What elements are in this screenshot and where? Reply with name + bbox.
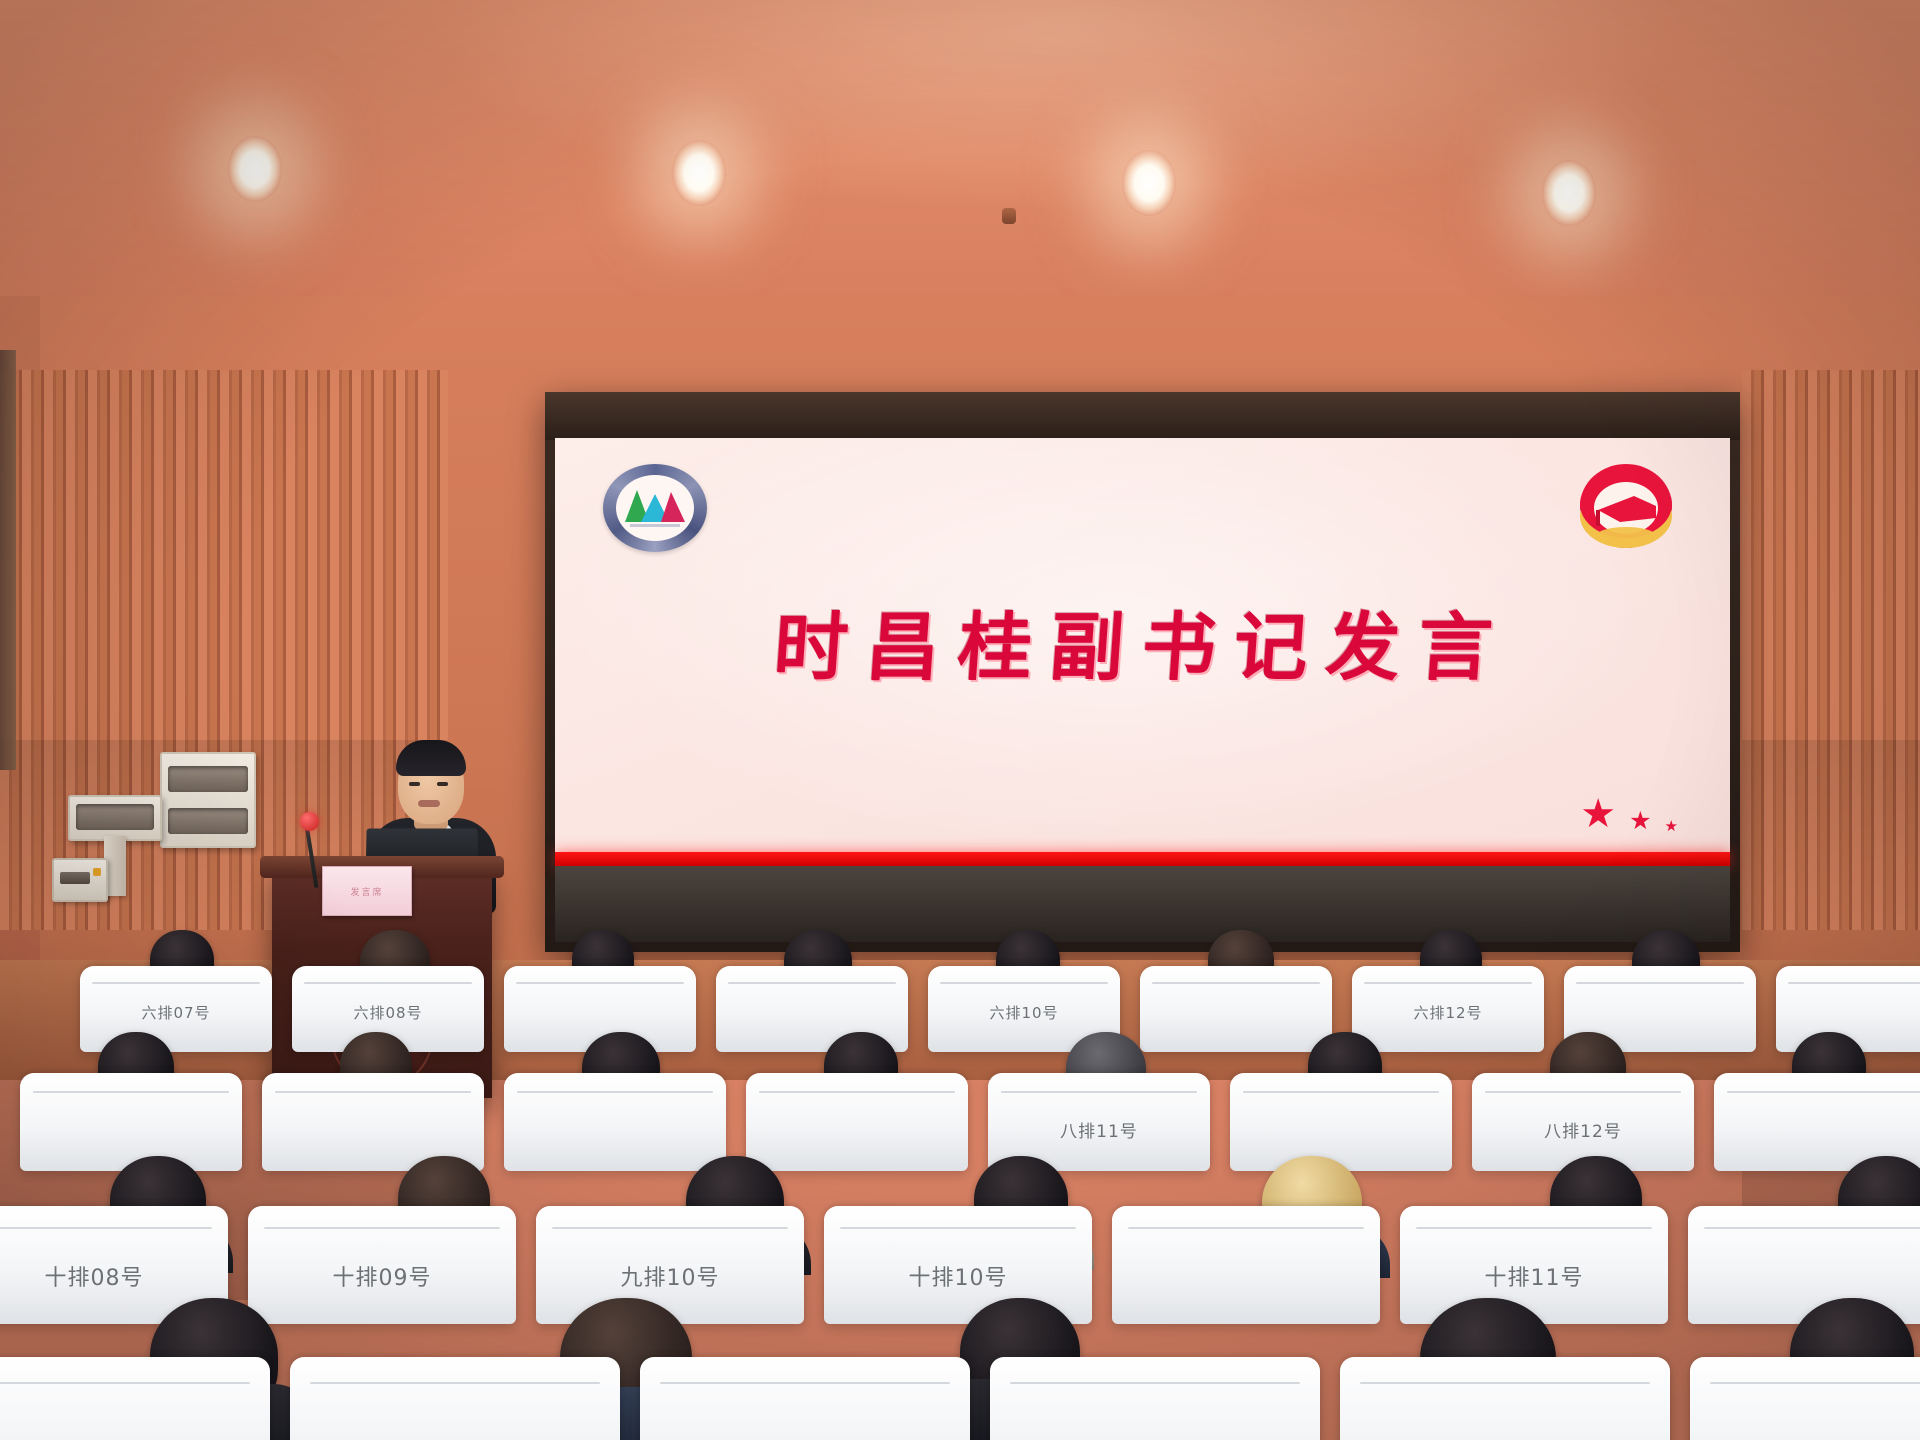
seat-number-label: 九排10号 — [536, 1260, 804, 1292]
downlight-4 — [1542, 160, 1596, 226]
ac-control-panel-small[interactable] — [68, 795, 162, 841]
panel-vent-lower — [168, 808, 247, 834]
sprinkler-head — [1002, 208, 1016, 224]
panel-vent-single — [76, 804, 153, 830]
seat-number-label: 十排09号 — [248, 1260, 516, 1292]
socket-slot — [60, 872, 90, 884]
speaker-mouth — [418, 800, 440, 807]
auditorium-seat[interactable] — [290, 1357, 620, 1440]
seat-number-label: 十排11号 — [1400, 1260, 1668, 1292]
door-frame-edge — [0, 350, 16, 770]
speaker-nameplate-text: 发言席 — [323, 867, 411, 915]
wood-slat-panel-right — [1742, 370, 1920, 930]
decorative-stars: ★ ★ ★ — [1580, 794, 1678, 834]
star-medium-icon: ★ — [1629, 809, 1651, 834]
seat-row — [0, 1298, 1920, 1440]
slide-title: 时昌桂副书记发言 — [555, 588, 1730, 695]
downlight-3 — [1122, 150, 1176, 216]
seat-number-label: 十排08号 — [0, 1260, 228, 1292]
auditorium-seat[interactable] — [1340, 1357, 1670, 1440]
slide-accent-bar — [555, 852, 1730, 866]
speaker-eye-right — [437, 782, 448, 786]
screen-top-housing — [545, 392, 1740, 440]
socket-indicator-led — [93, 868, 101, 876]
seat-number-label: 六排08号 — [292, 1002, 484, 1023]
speaker-nameplate: 发言席 — [322, 866, 412, 916]
downlight-2 — [672, 140, 726, 206]
seat-number-label: 八排12号 — [1472, 1117, 1694, 1142]
slide-surface: 时昌桂副书记发言 ★ ★ ★ — [555, 438, 1730, 852]
mountain-peaks-icon — [624, 486, 686, 530]
panel-vent-upper — [168, 766, 247, 792]
star-small-icon: ★ — [1665, 819, 1678, 834]
seat-number-label: 六排12号 — [1352, 1002, 1544, 1023]
seat-number-label: 六排07号 — [80, 1002, 272, 1023]
seat-row: 八排11号八排12号 — [0, 1032, 1920, 1170]
star-large-icon: ★ — [1580, 794, 1616, 834]
speaker-eye-left — [409, 782, 420, 786]
party-flag-emblem-icon — [1576, 460, 1676, 552]
seat-number-label: 八排11号 — [988, 1117, 1210, 1142]
auditorium-seat[interactable] — [0, 1357, 270, 1440]
party-emblem — [1576, 460, 1676, 552]
auditorium-photo: 时昌桂副书记发言 ★ ★ ★ 发言席 六排07号六排08号六排10号六排12号八… — [0, 0, 1920, 1440]
ac-control-panel-large[interactable] — [160, 752, 256, 848]
ceiling-light-wash — [0, 0, 1920, 300]
university-emblem-center — [616, 475, 694, 541]
seat-number-label: 六排10号 — [928, 1002, 1120, 1023]
seat-row: 十排08号十排09号九排10号十排10号十排11号 — [0, 1156, 1920, 1314]
auditorium-seat[interactable] — [640, 1357, 970, 1440]
seat-number-label: 十排10号 — [824, 1260, 1092, 1292]
projection-screen[interactable]: 时昌桂副书记发言 ★ ★ ★ — [545, 392, 1740, 952]
audience-seating: 六排07号六排08号六排10号六排12号八排11号八排12号十排08号十排09号… — [0, 920, 1920, 1440]
ceiling — [0, 0, 1920, 300]
microphone-head — [300, 812, 319, 831]
auditorium-seat[interactable] — [990, 1357, 1320, 1440]
downlight-1 — [228, 136, 282, 202]
auditorium-seat[interactable] — [1690, 1357, 1920, 1440]
speaker-hair — [396, 740, 466, 776]
wall-socket[interactable] — [52, 858, 108, 902]
university-emblem — [603, 464, 707, 552]
